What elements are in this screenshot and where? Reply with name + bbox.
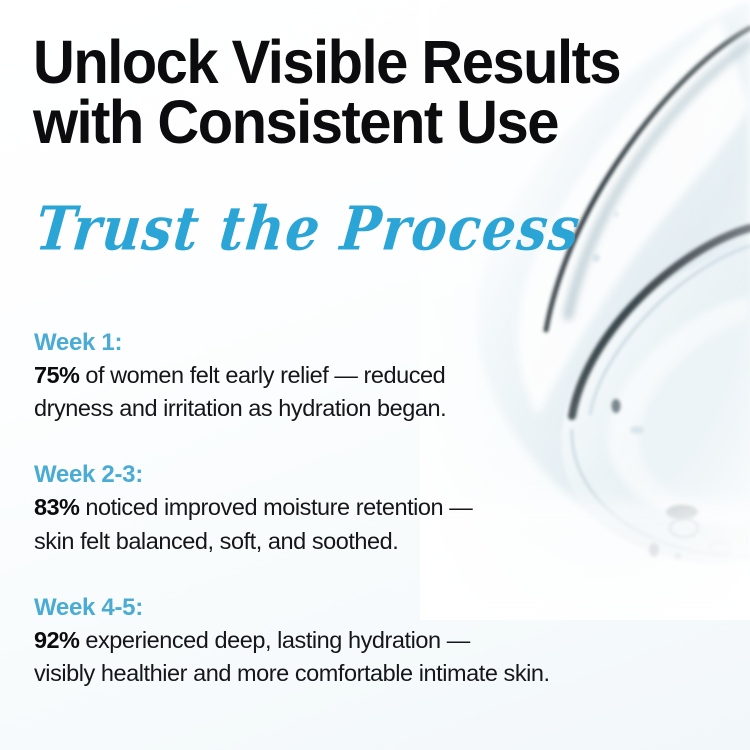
week-label-2: Week 2-3: bbox=[34, 460, 724, 491]
page-title: Unlock Visible Results with Consistent U… bbox=[33, 33, 679, 153]
script-subheading: Trust the Process bbox=[33, 199, 584, 259]
week-body-3: 92% experienced deep, lasting hydration … bbox=[34, 624, 724, 691]
list-item: Week 1: 75% of women felt early relief —… bbox=[34, 328, 724, 425]
list-item: Week 4-5: 92% experienced deep, lasting … bbox=[34, 593, 724, 690]
week-body-text-2: noticed improved moisture retention — sk… bbox=[34, 494, 472, 553]
week-results-list: Week 1: 75% of women felt early relief —… bbox=[34, 328, 724, 690]
stat-percentage-1: 75% bbox=[34, 362, 79, 388]
stat-percentage-3: 92% bbox=[34, 627, 79, 653]
week-body-text-3: experienced deep, lasting hydration — vi… bbox=[34, 627, 550, 686]
poster-canvas: Unlock Visible Results with Consistent U… bbox=[0, 0, 750, 750]
week-label-1: Week 1: bbox=[34, 328, 724, 359]
list-item: Week 2-3: 83% noticed improved moisture … bbox=[34, 460, 724, 557]
week-label-3: Week 4-5: bbox=[34, 593, 724, 624]
poster-content: Unlock Visible Results with Consistent U… bbox=[0, 0, 750, 750]
stat-percentage-2: 83% bbox=[34, 494, 79, 520]
week-body-1: 75% of women felt early relief — reduced… bbox=[34, 359, 724, 426]
week-body-text-1: of women felt early relief — reduced dry… bbox=[34, 362, 446, 421]
week-body-2: 83% noticed improved moisture retention … bbox=[34, 491, 724, 558]
